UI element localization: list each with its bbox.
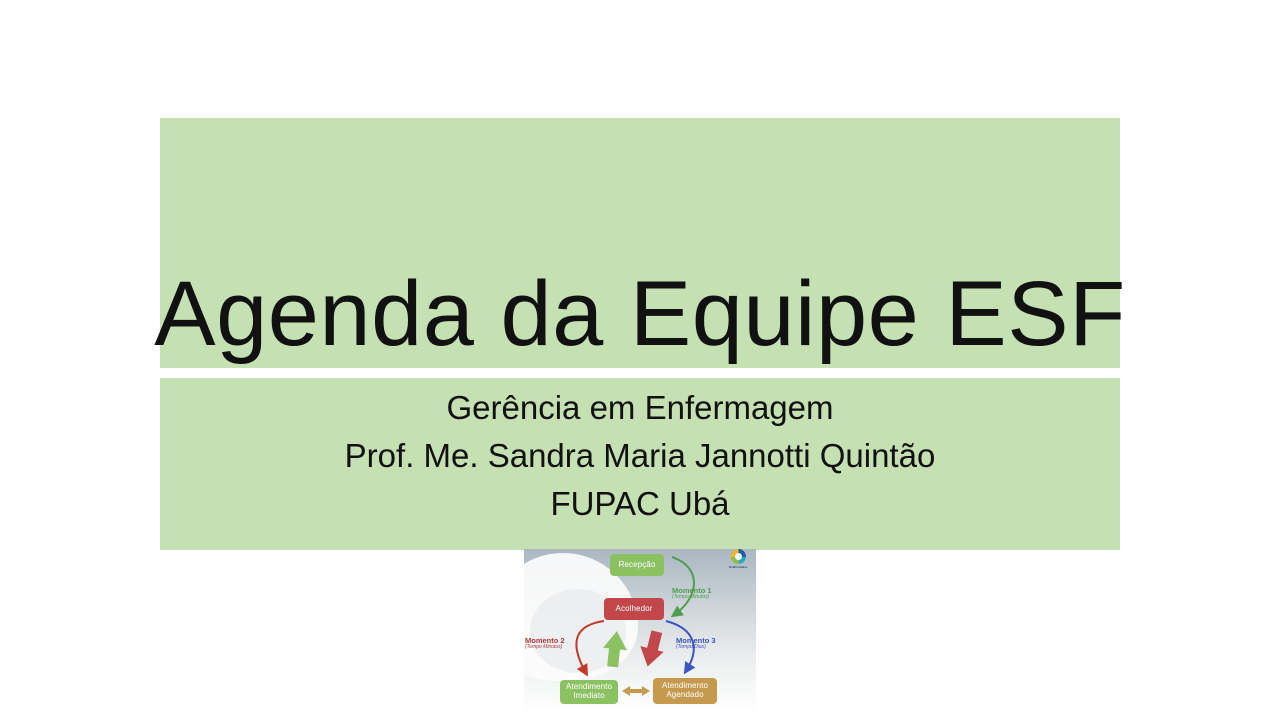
subtitle-line-course: Gerência em Enfermagem [447,384,834,432]
embedded-flow-diagram-image: Recepção Acolhedor Atendimento Imediato … [524,545,756,713]
diagram-node-atendimento-imediato: Atendimento Imediato [560,680,618,704]
subtitle-line-institution: FUPAC Ubá [550,480,729,528]
presentation-slide: Agenda da Equipe ESF Gerência em Enferma… [0,0,1280,720]
momento-2-subtitle: (Tempo Minutos) [525,645,565,650]
diagram-node-acolhedor: Acolhedor [604,598,664,620]
diagram-logo: VivaProdutivo [725,549,751,573]
logo-caption: VivaProdutivo [729,565,748,569]
title-band: Agenda da Equipe ESF [160,118,1120,368]
diagram-label-momento-1: Momento 1 (Tempo Minutos) [672,587,712,600]
momento-1-subtitle: (Tempo Minutos) [672,595,712,600]
momento-3-subtitle: (Tempo Dias) [676,645,716,650]
diagram-label-momento-3: Momento 3 (Tempo Dias) [676,637,716,650]
subtitle-line-author: Prof. Me. Sandra Maria Jannotti Quintão [345,432,936,480]
page-title: Agenda da Equipe ESF [154,268,1126,368]
diagram-node-recepcao: Recepção [610,554,664,576]
diagram-top-strip [524,545,756,549]
subtitle-band: Gerência em Enfermagem Prof. Me. Sandra … [160,378,1120,550]
diagram-node-atendimento-agendado: Atendimento Agendado [653,678,717,704]
circular-logo-icon [731,549,746,564]
diagram-label-momento-2: Momento 2 (Tempo Minutos) [525,637,565,650]
